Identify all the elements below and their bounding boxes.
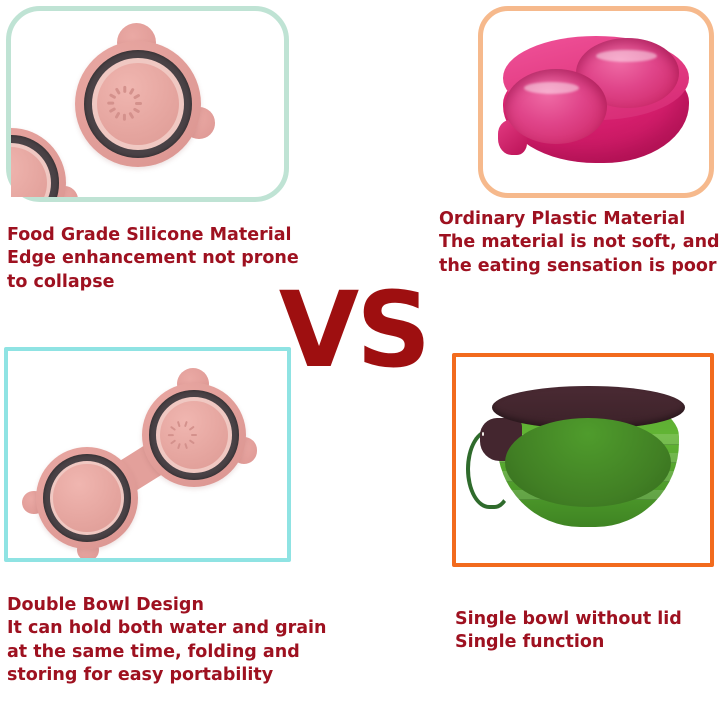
caption-line: Single function [455,631,717,654]
silicone-lid-image [11,11,284,197]
caption-line: at the same time, folding and [7,641,367,664]
caption-line: Double Bowl Design [7,594,367,617]
bear-bowl-upper [132,373,256,497]
product-panel-plastic-bowl [478,6,714,198]
product-panel-double-bowl [4,347,291,562]
caption-line: the eating sensation is poor [439,255,719,278]
plastic-bowl-image [483,11,709,193]
caption-line: The material is not soft, and [439,231,719,254]
caption-line: storing for easy portability [7,664,367,687]
caption-line: Ordinary Plastic Material [439,208,719,231]
caption-double-bowl-design: Double Bowl Design It can hold both wate… [7,594,367,687]
product-panel-silicone-lid [6,6,289,202]
product-panel-collapsible-bowl [452,353,714,567]
comparison-infographic: VS Food Grade Silicone Material Edge enh… [0,0,720,720]
plastic-double-bowl [503,36,688,171]
caption-plastic-material: Ordinary Plastic Material The material i… [439,208,719,278]
caption-silicone-material: Food Grade Silicone Material Edge enhanc… [7,224,317,294]
green-collapsible-bowl [492,386,685,530]
clip-hole [482,432,484,436]
bear-bowl-lower [26,437,148,558]
gloss-highlight [596,50,657,62]
bowl-cup-front [505,69,607,144]
bowl-lid [97,63,180,146]
bowl-opening [505,418,671,507]
double-bowl-image [8,351,287,558]
bear-bowl-main [63,29,213,179]
caption-line: It can hold both water and grain [7,617,367,640]
caption-line: Food Grade Silicone Material [7,224,317,247]
caption-line: Edge enhancement not prone [7,247,317,270]
bowl-lid [160,401,228,469]
bowl-interior [53,464,120,531]
caption-single-bowl: Single bowl without lid Single function [455,608,717,655]
caption-line: Single bowl without lid [455,608,717,631]
collapsible-bowl-image [456,357,710,563]
bear-bowl-secondary [11,117,77,197]
caption-line: to collapse [7,271,317,294]
